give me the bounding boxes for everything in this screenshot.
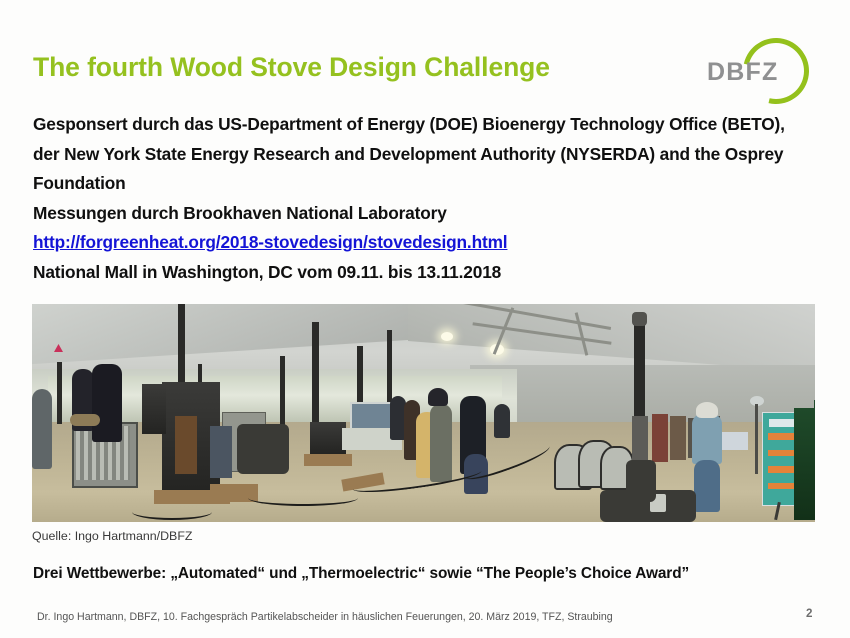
- location-line: National Mall in Washington, DC vom 09.1…: [33, 258, 823, 288]
- event-photo-image: [32, 304, 815, 522]
- page-title: The fourth Wood Stove Design Challenge: [33, 52, 550, 83]
- body-text-block: Gesponsert durch das US-Department of En…: [33, 110, 823, 287]
- dbfz-logo: DBFZ: [705, 36, 815, 108]
- competitions-line: Drei Wettbewerbe: „Automated“ und „Therm…: [33, 565, 689, 583]
- page-number: 2: [806, 607, 812, 620]
- sponsor-paragraph: Gesponsert durch das US-Department of En…: [33, 110, 793, 199]
- event-photo: [32, 304, 815, 522]
- stovedesign-link[interactable]: http://forgreenheat.org/2018-stovedesign…: [33, 228, 507, 258]
- photo-caption: Quelle: Ingo Hartmann/DBFZ: [32, 529, 192, 543]
- logo-wordmark: DBFZ: [707, 58, 778, 87]
- footer-text: Dr. Ingo Hartmann, DBFZ, 10. Fachgespräc…: [37, 611, 613, 623]
- measurements-line: Messungen durch Brookhaven National Labo…: [33, 199, 823, 229]
- slide-canvas: DBFZ The fourth Wood Stove Design Challe…: [0, 0, 850, 638]
